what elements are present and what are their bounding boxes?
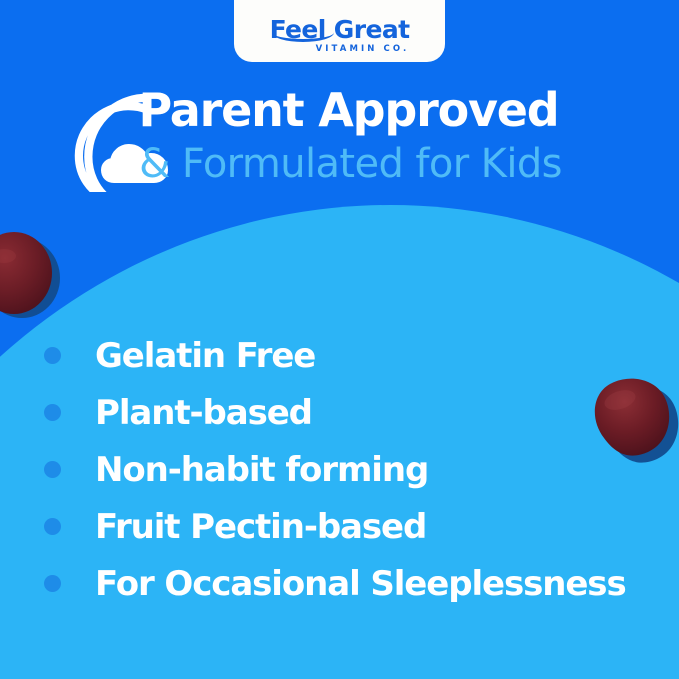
bullet-dot-icon	[44, 347, 61, 364]
page-subtitle: & Formulated for Kids	[0, 140, 679, 188]
feature-label: Gelatin Free	[95, 338, 315, 374]
feature-label: Fruit Pectin-based	[95, 509, 426, 545]
list-item: Fruit Pectin-based	[44, 498, 664, 555]
feature-label: Non-habit forming	[95, 452, 428, 488]
brand-logo[interactable]: Feel Great VITAMIN CO.	[234, 0, 445, 62]
feature-label: For Occasional Sleeplessness	[95, 566, 626, 602]
gummy-left	[0, 228, 76, 328]
smile-underline-icon	[272, 23, 334, 42]
brand-logo-subtitle: VITAMIN CO.	[316, 44, 410, 55]
bullet-dot-icon	[44, 461, 61, 478]
feature-list: Gelatin Free Plant-based Non-habit formi…	[44, 327, 664, 612]
bullet-dot-icon	[44, 575, 61, 592]
list-item: Gelatin Free	[44, 327, 664, 384]
page-title: Parent Approved	[0, 84, 679, 136]
product-feature-banner: Feel Great VITAMIN CO. Parent Approved &…	[0, 0, 679, 679]
bullet-dot-icon	[44, 404, 61, 421]
list-item: Non-habit forming	[44, 441, 664, 498]
list-item: Plant-based	[44, 384, 664, 441]
bullet-dot-icon	[44, 518, 61, 535]
feature-label: Plant-based	[95, 395, 312, 431]
list-item: For Occasional Sleeplessness	[44, 555, 664, 612]
